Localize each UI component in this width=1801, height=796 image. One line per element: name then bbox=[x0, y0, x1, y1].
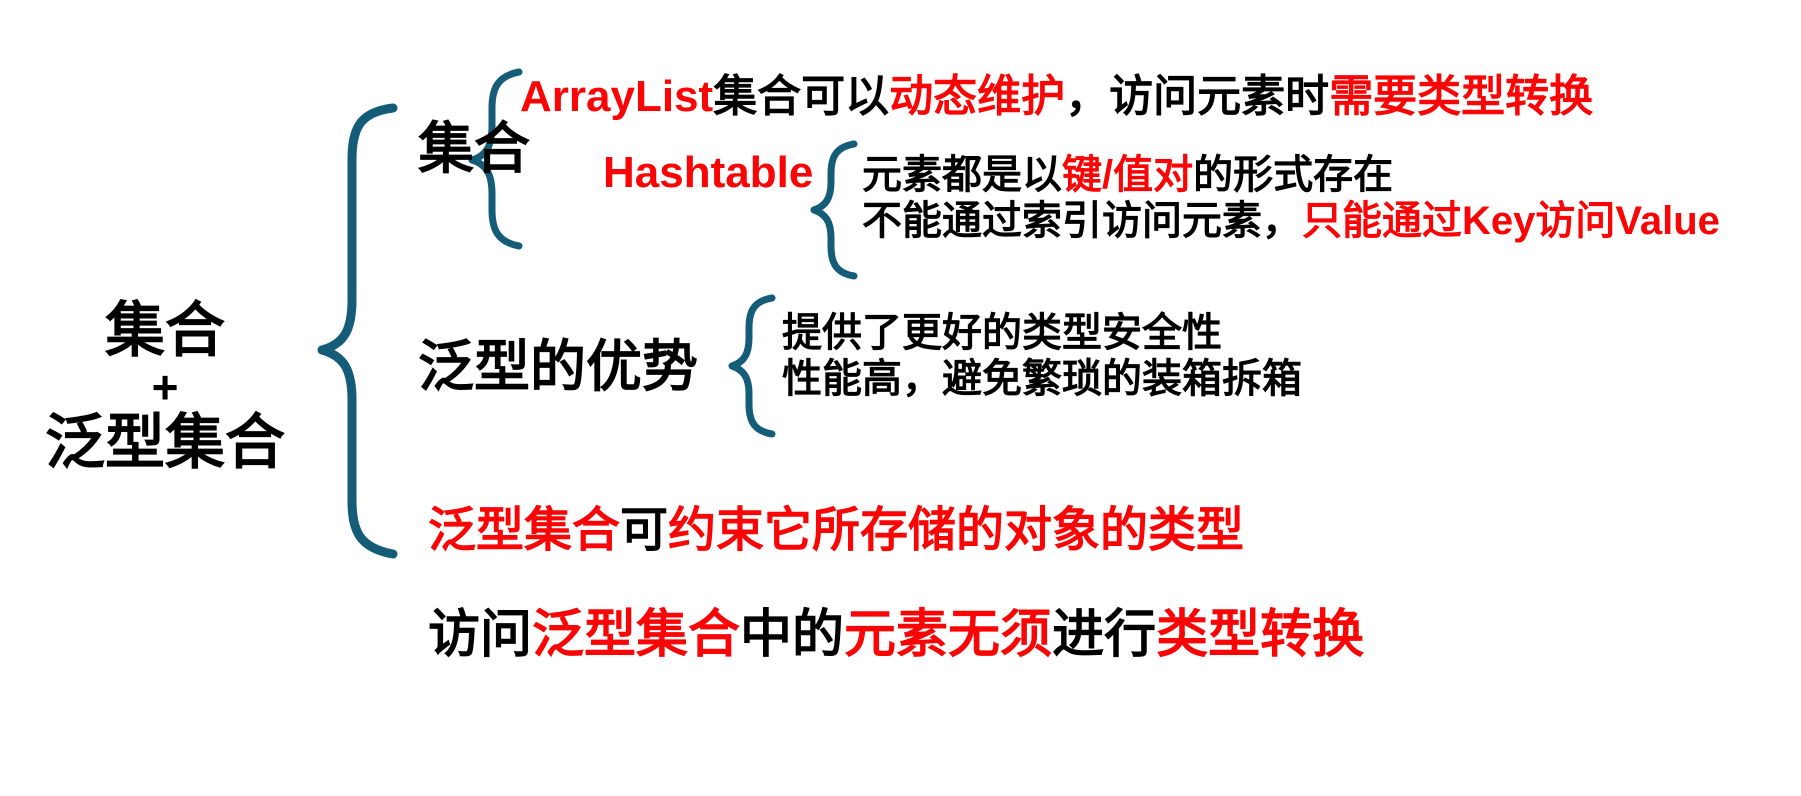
arraylist-seg-3: ，访问元素时 bbox=[1065, 72, 1329, 121]
footer-seg-4: 进行 bbox=[1052, 606, 1156, 664]
arraylist-seg-1: 集合可以 bbox=[713, 72, 889, 121]
branch3-seg-0: 泛型集合 bbox=[428, 504, 620, 557]
branch-label-collection: 集合 bbox=[418, 104, 530, 185]
hashtable-brace bbox=[814, 144, 854, 276]
main-brace bbox=[322, 108, 393, 554]
hashtable-detail-line-2: 不能通过索引访问元素，只能通过Key访问Value bbox=[862, 188, 1720, 246]
footer-seg-2: 中的 bbox=[740, 606, 844, 664]
arraylist-seg-4: 需要类型转换 bbox=[1329, 72, 1593, 121]
advantages-line-2: 性能高，避免繁琐的装箱拆箱 bbox=[782, 346, 1302, 404]
footer-seg-0: 访问 bbox=[428, 606, 532, 664]
hashtable-l2-seg-0: 不能通过索引访问元素， bbox=[862, 199, 1302, 243]
footer-summary-text: 访问泛型集合中的元素无须进行类型转换 bbox=[428, 592, 1364, 667]
arraylist-seg-2: 动态维护 bbox=[889, 72, 1065, 121]
item-hashtable-label: Hashtable bbox=[603, 148, 813, 198]
hashtable-l2-seg-1: 只能通过Key访问Value bbox=[1302, 199, 1720, 243]
root-line-2: 泛型集合 bbox=[0, 408, 330, 478]
branch3-seg-1: 可 bbox=[620, 504, 668, 557]
root-plus-sign: + bbox=[0, 364, 330, 410]
arraylist-seg-0: ArrayList bbox=[520, 72, 713, 121]
footer-seg-5: 类型转换 bbox=[1156, 606, 1364, 664]
branch-label-generic-advantages: 泛型的优势 bbox=[418, 322, 698, 403]
footer-seg-3: 元素无须 bbox=[844, 606, 1052, 664]
branch3-seg-2: 约束它所存储的对象的类型 bbox=[668, 504, 1244, 557]
item-arraylist-text: ArrayList集合可以动态维护，访问元素时需要类型转换 bbox=[520, 60, 1593, 124]
root-node: 集合 + 泛型集合 bbox=[0, 296, 330, 477]
advantages-brace bbox=[732, 298, 772, 434]
footer-seg-1: 泛型集合 bbox=[532, 606, 740, 664]
branch-generic-collection-text: 泛型集合可约束它所存储的对象的类型 bbox=[428, 490, 1244, 560]
root-line-1: 集合 bbox=[0, 296, 330, 366]
mindmap-canvas: 集合 + 泛型集合 集合 ArrayList集合可以动态维护，访问元素时需要类型… bbox=[0, 0, 1801, 796]
